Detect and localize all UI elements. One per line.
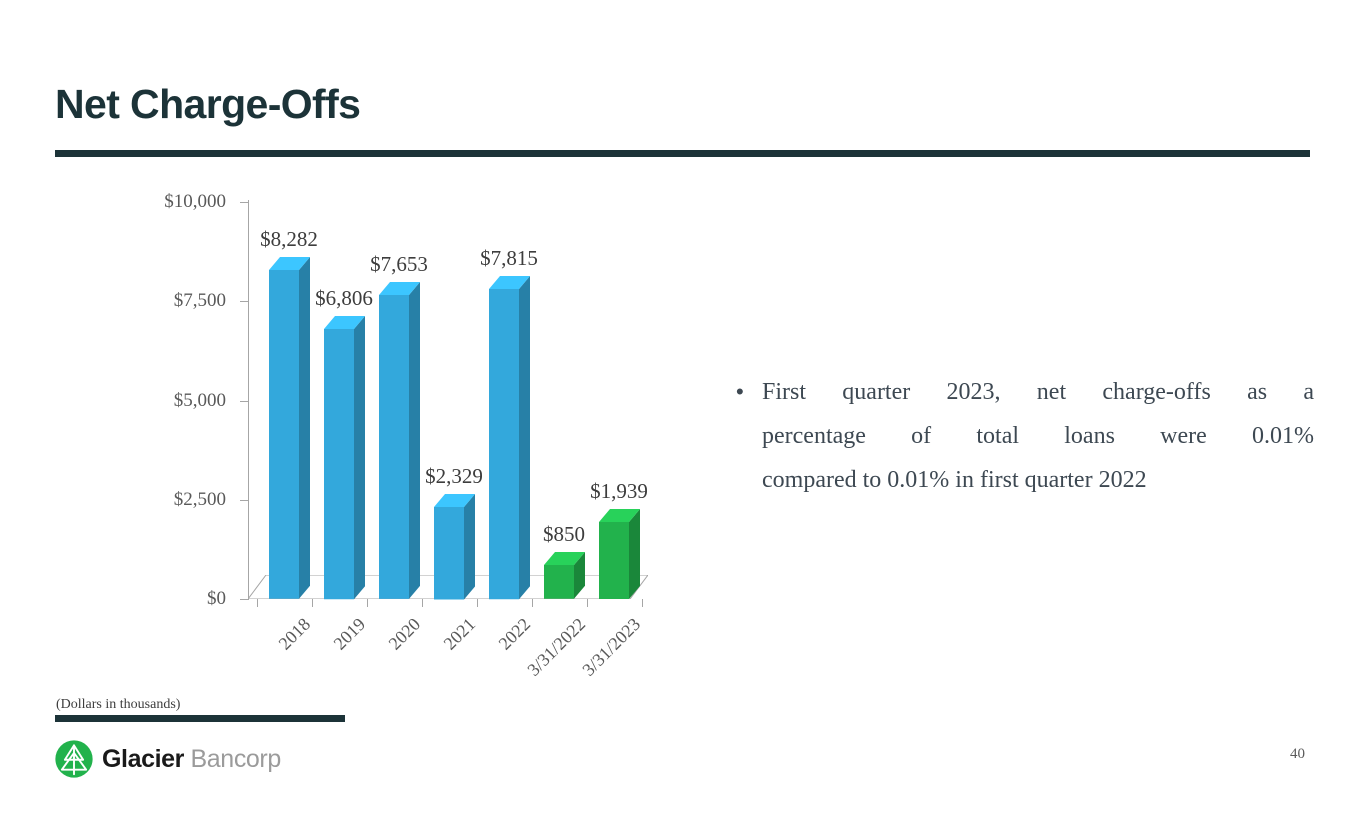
x-axis-tick: [367, 599, 368, 607]
logo-word-bancorp: Bancorp: [184, 745, 281, 773]
title-divider: [55, 150, 1310, 157]
bullet-marker-icon: •: [736, 370, 762, 414]
logo-word-glacier: Glacier: [102, 745, 184, 773]
x-axis-tick-label: 2018: [275, 614, 315, 654]
list-item: • First quarter 2023, net charge-offs as…: [736, 370, 1314, 502]
y-axis-tick: [240, 500, 249, 501]
x-axis-tick: [587, 599, 588, 607]
bullet-text: First quarter 2023, net charge-offs as a…: [762, 370, 1314, 502]
bar-3/31/2022: [544, 552, 574, 599]
y-axis-tick-label: $0: [207, 588, 226, 610]
bar-value-label: $8,282: [260, 227, 318, 252]
x-axis-tick: [642, 599, 643, 607]
page-title: Net Charge-Offs: [55, 82, 360, 127]
bar-2019: [324, 316, 354, 599]
pine-tree-in-circle-icon: [55, 740, 93, 778]
net-charge-offs-chart: $0$2,500$5,000$7,500$10,000 $8,282$6,806…: [140, 180, 700, 680]
y-axis-tick-label: $10,000: [164, 191, 226, 213]
bar-2020: [379, 282, 409, 599]
x-axis-tick: [422, 599, 423, 607]
x-axis-tick-label: 3/31/2022: [523, 614, 589, 680]
bar-value-label: $850: [543, 522, 585, 547]
x-axis-tick: [257, 599, 258, 607]
x-axis-tick: [312, 599, 313, 607]
x-axis-tick: [532, 599, 533, 607]
x-axis-tick-label: 2019: [330, 614, 370, 654]
y-axis-tick: [240, 202, 249, 203]
bar-value-label: $6,806: [315, 286, 373, 311]
bar-2021: [434, 494, 464, 599]
page-number: 40: [1290, 746, 1305, 763]
y-axis-tick: [240, 599, 249, 600]
bar-value-label: $7,653: [370, 252, 428, 277]
bullet-line-2: percentage of total loans were 0.01%: [762, 414, 1314, 458]
y-axis-tick-label: $7,500: [174, 290, 226, 312]
bullet-list: • First quarter 2023, net charge-offs as…: [736, 370, 1314, 502]
x-axis-tick: [477, 599, 478, 607]
bar-value-label: $2,329: [425, 464, 483, 489]
logo-wordmark: Glacier Bancorp: [102, 745, 281, 774]
y-axis-tick: [240, 301, 249, 302]
x-axis-tick-label: 2020: [385, 614, 425, 654]
glacier-bancorp-logo: Glacier Bancorp: [55, 740, 281, 778]
bar-2018: [269, 257, 299, 599]
y-axis-tick: [240, 401, 249, 402]
bar-value-label: $1,939: [590, 479, 648, 504]
y-axis-tick-label: $5,000: [174, 390, 226, 412]
footer-divider: [55, 715, 345, 722]
bullet-line-3: compared to 0.01% in first quarter 2022: [762, 458, 1314, 502]
x-axis-tick-label: 3/31/2023: [578, 614, 644, 680]
bar-2022: [489, 276, 519, 599]
y-axis-tick-label: $2,500: [174, 489, 226, 511]
y-axis-line: [248, 200, 249, 598]
x-axis-tick-label: 2021: [440, 614, 480, 654]
bullet-line-1: First quarter 2023, net charge-offs as a: [762, 370, 1314, 414]
bar-value-label: $7,815: [480, 246, 538, 271]
x-axis-tick-label: 2022: [495, 614, 535, 654]
bar-3/31/2023: [599, 509, 629, 599]
footnote: (Dollars in thousands): [56, 697, 180, 713]
